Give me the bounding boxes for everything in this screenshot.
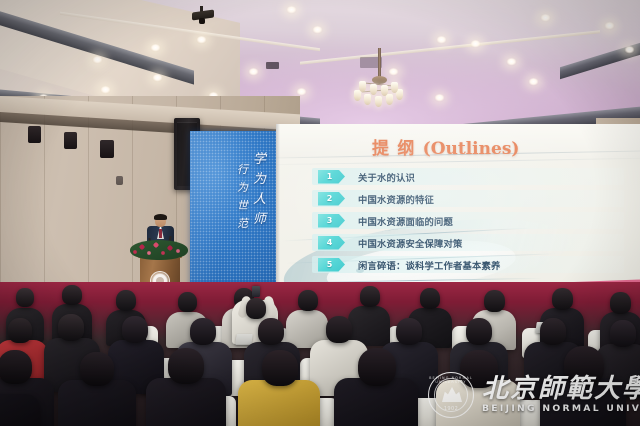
audience-head [298,290,318,311]
list-item: 2 中国水资源的特征 [318,190,628,207]
audience-head [610,320,636,347]
watermark-logo: BEIJING NORMAL UNIVERSITY 1902 北京師範大學 BE… [428,372,640,418]
item-number: 1 [327,172,333,181]
seal-year: 1902 [429,406,473,412]
audience-head [552,288,573,310]
chandelier-lamp [364,94,371,105]
ceiling-projector [192,6,214,26]
item-label: 关于水的认识 [358,170,415,184]
audience-head [58,314,84,341]
downlight [92,56,103,64]
university-name-cn: 北京師範大學 [482,376,640,402]
audience-head [466,318,492,345]
audience-head [122,316,148,343]
motto-char: 学 [253,153,266,166]
audience-member [238,380,320,426]
downlight [624,46,635,54]
downlight [436,36,447,44]
wall-speaker [64,132,77,149]
audience-head [116,290,136,311]
motto-char: 人 [253,193,266,206]
audience-head [178,292,197,312]
motto-char: 师 [253,213,266,226]
motto-columns: 学 为 人 师 行 为 世 范 [200,153,266,229]
lecture-hall-photo: 学 为 人 师 行 为 世 范 提 纲 (Outlines) [0,0,640,426]
audience-head [246,298,266,319]
audience-head [62,285,82,305]
item-number: 4 [327,238,333,247]
downlight [248,68,259,76]
wall-speaker [28,126,41,143]
list-item: 3 中国水资源面临的问题 [318,212,628,229]
speaker-hair [154,214,167,220]
watermark-text: 北京師範大學 BEIJING NORMAL UNIVERSITY [482,376,640,413]
audience-head [16,288,34,307]
audience-head [358,348,396,386]
list-item: 1 关于水的认识 [318,168,628,185]
motto-column-2: 行 为 世 范 [237,164,248,229]
motto-char: 为 [237,182,248,193]
motto-char: 行 [237,164,248,175]
item-label: 中国水资源安全保障对策 [358,236,462,250]
item-label: 中国水资源面临的问题 [358,214,453,228]
audience-head [420,288,440,309]
item-number: 5 [327,260,333,269]
downlight [312,26,323,34]
motto-char: 范 [237,218,248,229]
audience-head [360,286,380,307]
motto-char: 世 [237,200,248,211]
audience-member [146,378,226,426]
downlight [434,94,445,102]
chandelier [352,48,408,110]
downlight [540,14,551,22]
downlight [506,58,517,66]
item-number: 2 [327,194,333,203]
audience-head [258,318,284,345]
audience-head [80,352,114,386]
downlight [286,6,297,14]
downlight [296,88,307,96]
downlight [604,22,615,30]
flower-mass [130,240,188,260]
motto-column-1: 学 为 人 师 [253,153,266,229]
air-vent-icon [266,62,279,69]
audience-member [0,394,40,426]
chandelier-lamp [375,96,382,107]
slide-title: 提 纲 (Outlines) [372,134,519,159]
seal-ring-text: BEIJING NORMAL UNIVERSITY [429,376,473,384]
audience-head [168,348,204,384]
downlight [152,74,163,82]
projector-lens-icon [199,18,205,24]
audience-head [0,350,32,384]
downlight [150,44,161,52]
audience-head [8,318,32,343]
audience-head [396,318,422,345]
downlight [528,78,539,86]
chandelier-lamp [386,94,393,105]
audience-head [540,318,566,345]
slide-title-en: (Outlines) [423,139,520,159]
flower-arrangement [130,236,188,262]
motto-banner-panel: 学 为 人 师 行 为 世 范 [190,131,276,296]
chandelier-lamp [391,82,398,93]
audience-head [484,290,505,312]
audience-head [190,318,216,345]
chandelier-lamp [354,90,361,101]
slide-title-cn: 提 纲 [372,139,416,159]
wall-sensor-icon [116,176,123,185]
university-name-en: BEIJING NORMAL UNIVERSITY [482,404,640,413]
item-label: 中国水资源的特征 [358,192,434,206]
audience-head [610,292,631,314]
downlight [470,40,481,48]
wall-speaker [100,140,114,158]
chandelier-lamp [381,85,388,96]
chandelier-lamp [370,84,377,95]
downlight [100,86,111,94]
smartphone-icon [252,286,260,297]
item-number: 3 [327,216,333,225]
slide-outline-list: 1 关于水的认识 2 中国水资源的特征 3 中国水资源面临的问题 [318,168,628,278]
university-seal-icon: BEIJING NORMAL UNIVERSITY 1902 [428,372,474,418]
motto-char: 为 [253,173,266,186]
projection-screen: 提 纲 (Outlines) 1 关于水的认识 2 [276,124,640,302]
screen-edge-shadow [276,124,280,302]
audience-head [326,316,352,343]
chandelier-lamp [359,81,366,92]
list-item: 4 中国水资源安全保障对策 [318,234,628,251]
chandelier-rod [378,48,381,78]
list-item: 5 闲言碎语：谈科学工作者基本素养 [318,256,628,273]
downlight [196,36,207,44]
item-label: 闲言碎语：谈科学工作者基本素养 [358,258,500,272]
audience-member [58,380,136,426]
audience-head [262,350,298,386]
